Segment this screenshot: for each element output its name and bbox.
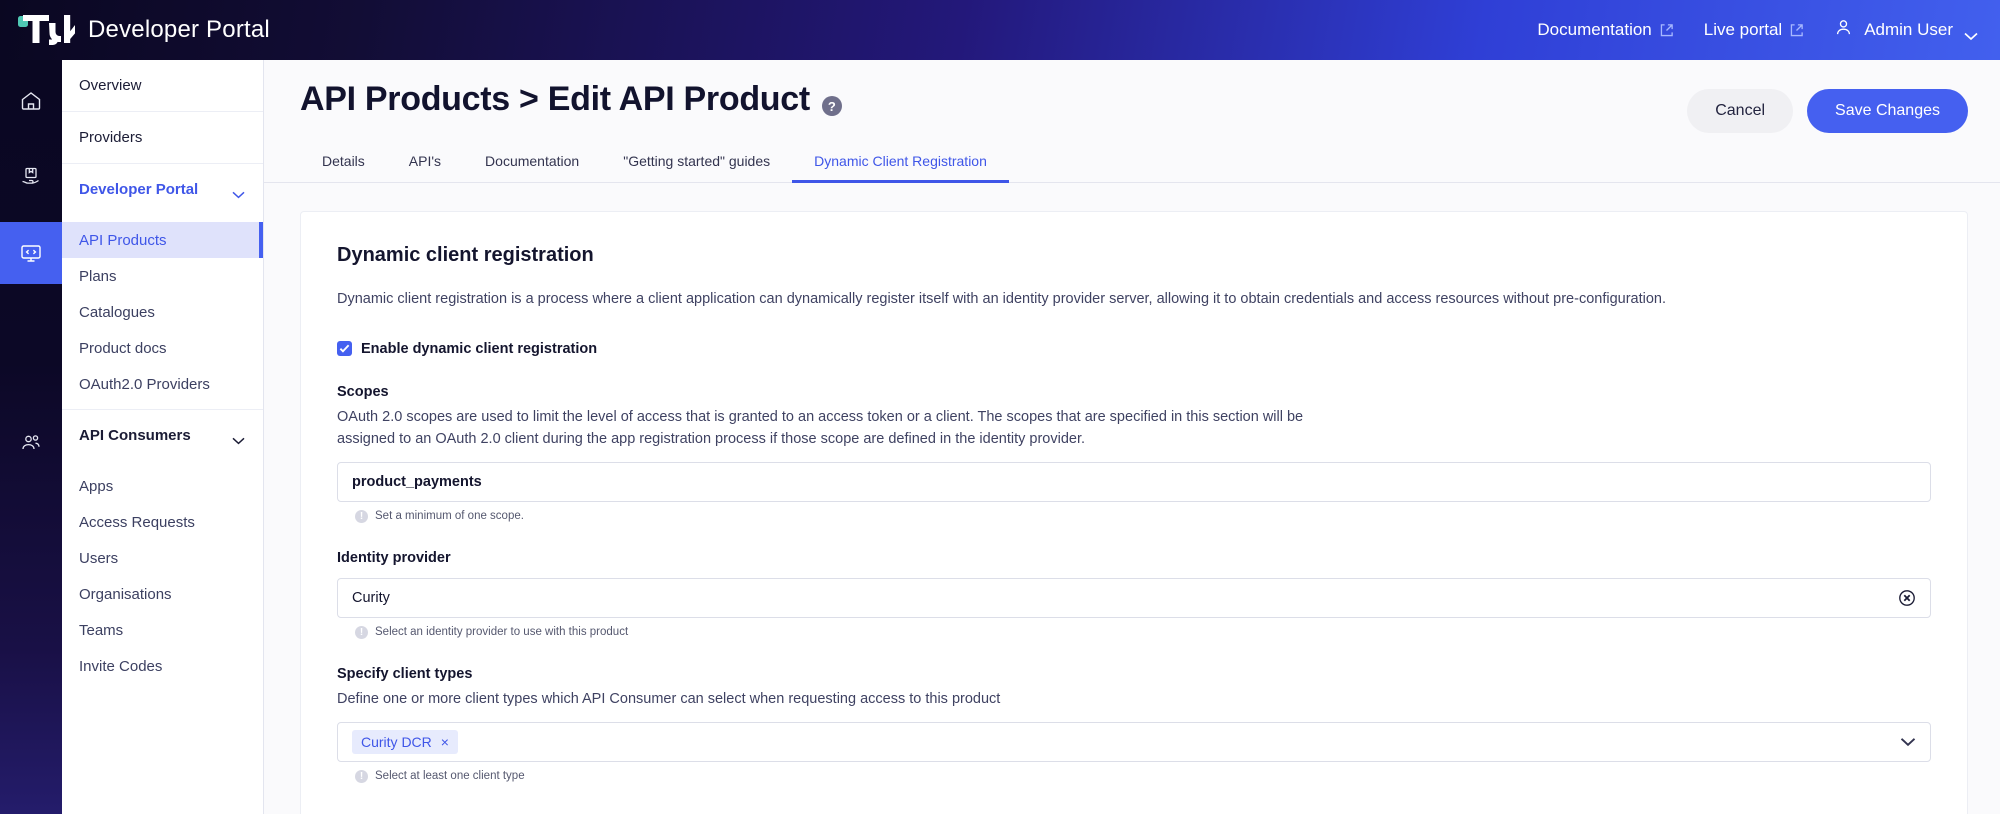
sidebar-item-teams[interactable]: Teams [62,612,263,648]
identity-provider-hint: ! Select an identity provider to use wit… [337,626,1931,639]
chevron-down-icon [232,186,245,194]
enable-dcr-label: Enable dynamic client registration [361,341,597,357]
sidebar-group-overview: Overview [62,60,263,112]
external-link-icon [1659,23,1674,38]
info-exclamation-icon: ! [355,626,368,639]
sidebar-item-catalogues[interactable]: Catalogues [62,294,263,330]
sidebar-item-label: API Products [79,232,167,249]
scopes-hint: ! Set a minimum of one scope. [337,510,1931,523]
section-description: Dynamic client registration is a process… [337,289,1931,311]
top-bar: Developer Portal Documentation Live port… [0,0,2000,60]
api-consumers-users-icon [19,431,43,455]
scopes-input[interactable]: product_payments [337,462,1931,502]
sidebar-item-users[interactable]: Users [62,540,263,576]
sidebar-item-organisations[interactable]: Organisations [62,576,263,612]
scopes-label: Scopes [337,384,1931,400]
sidebar-section-developer-portal[interactable]: Developer Portal [62,164,263,215]
sidebar-item-label: Overview [79,77,142,94]
enable-dcr-row[interactable]: Enable dynamic client registration [337,341,1931,357]
sidebar-item-label: Teams [79,622,123,639]
user-menu[interactable]: Admin User [1834,18,1978,42]
sidebar-item-label: Users [79,550,118,567]
scopes-input-value: product_payments [352,474,482,490]
developer-portal-monitor-code-icon [19,241,43,265]
sidebar-item-label: Plans [79,268,117,285]
client-type-chip[interactable]: Curity DCR × [352,730,458,754]
sidebar-item-label: Catalogues [79,304,155,321]
live-portal-link[interactable]: Live portal [1704,20,1804,40]
sidebar-item-label: Organisations [79,586,172,603]
client-types-description: Define one or more client types which AP… [337,688,1347,710]
checkmark-icon [339,343,350,354]
main-content: API Products > Edit API Product ? Cancel… [264,60,2000,814]
spacer [62,215,263,222]
sidebar-item-access-requests[interactable]: Access Requests [62,504,263,540]
sidebar-item-plans[interactable]: Plans [62,258,263,294]
tab-getting-started-guides[interactable]: "Getting started" guides [601,145,792,183]
scopes-hint-text: Set a minimum of one scope. [375,510,524,522]
chevron-down-icon [1964,26,1978,35]
sidebar-group-providers: Providers [62,112,263,164]
identity-provider-input[interactable]: Curity [337,578,1931,618]
section-title: Dynamic client registration [337,244,1931,267]
client-types-label: Specify client types [337,666,1931,682]
sidebar-item-product-docs[interactable]: Product docs [62,330,263,366]
client-types-hint: ! Select at least one client type [337,770,1931,783]
brand-title: Developer Portal [88,16,270,44]
sidebar-item-overview[interactable]: Overview [62,60,263,111]
chevron-down-icon[interactable] [1900,737,1916,747]
rail-item-home[interactable] [0,70,62,132]
sidebar-item-label: Providers [79,129,142,146]
providers-package-icon [19,165,43,189]
client-type-chip-label: Curity DCR [361,734,432,750]
sidebar-item-api-products[interactable]: API Products [62,222,263,258]
home-icon [19,89,43,113]
sidebar-item-label: Product docs [79,340,167,357]
spacer [62,461,263,468]
spacer [62,402,263,409]
help-question-icon[interactable]: ? [822,96,842,116]
client-types-field: Specify client types Define one or more … [337,666,1931,783]
sidebar-section-api-consumers[interactable]: API Consumers [62,410,263,461]
card-wrapper: Dynamic client registration Dynamic clie… [264,183,2000,814]
identity-provider-field: Identity provider Curity ! Select an ide… [337,550,1931,639]
rail-item-providers[interactable] [0,146,62,208]
clear-circle-x-icon[interactable] [1898,589,1916,607]
tab-documentation[interactable]: Documentation [463,145,601,183]
page-header-actions: Cancel Save Changes [1687,82,1968,133]
sidebar-item-invite-codes[interactable]: Invite Codes [62,648,263,684]
sidebar-section-label: Developer Portal [79,181,198,198]
chevron-down-icon [232,432,245,440]
rail-item-api-consumers[interactable] [0,412,62,474]
identity-provider-value: Curity [352,590,390,606]
sidebar-group-developer-portal: Developer Portal API Products Plans Cata… [62,164,263,410]
sidebar-item-label: Invite Codes [79,658,162,675]
sidebar-item-label: OAuth2.0 Providers [79,376,210,393]
tab-dynamic-client-registration[interactable]: Dynamic Client Registration [792,145,1009,183]
sidebar-group-api-consumers: API Consumers Apps Access Requests Users… [62,410,263,684]
tab-apis[interactable]: API's [387,145,463,183]
user-name: Admin User [1864,20,1953,40]
icon-rail [0,60,62,814]
info-exclamation-icon: ! [355,770,368,783]
sidebar-item-label: Access Requests [79,514,195,531]
sidebar-item-providers[interactable]: Providers [62,112,263,163]
save-changes-button[interactable]: Save Changes [1807,89,1968,133]
sidebar-section-label: API Consumers [79,427,191,444]
identity-provider-hint-text: Select an identity provider to use with … [375,626,628,638]
external-link-icon [1789,23,1804,38]
documentation-link[interactable]: Documentation [1537,20,1673,40]
info-exclamation-icon: ! [355,510,368,523]
tyk-logo-icon [18,13,76,47]
brand[interactable]: Developer Portal [0,13,270,47]
live-portal-link-label: Live portal [1704,20,1782,40]
identity-provider-label: Identity provider [337,550,1931,566]
sidebar-item-apps[interactable]: Apps [62,468,263,504]
tab-bar: Details API's Documentation "Getting sta… [264,133,2000,183]
sidebar-item-oauth2-providers[interactable]: OAuth2.0 Providers [62,366,263,402]
page-title: API Products > Edit API Product [300,82,810,118]
chip-remove-icon[interactable]: × [441,734,449,750]
scopes-description: OAuth 2.0 scopes are used to limit the l… [337,406,1347,450]
tab-details[interactable]: Details [300,145,387,183]
user-icon [1834,18,1853,42]
documentation-link-label: Documentation [1537,20,1651,40]
cancel-button[interactable]: Cancel [1687,89,1793,133]
page-header: API Products > Edit API Product ? Cancel… [264,60,2000,133]
sidebar-item-label: Apps [79,478,113,495]
enable-dcr-checkbox[interactable] [337,341,352,356]
top-bar-actions: Documentation Live portal Admin User [1537,18,2000,42]
rail-item-developer-portal[interactable] [0,222,62,284]
scopes-field: Scopes OAuth 2.0 scopes are used to limi… [337,384,1931,523]
client-types-hint-text: Select at least one client type [375,770,525,782]
sidebar: Overview Providers Developer Portal API … [62,60,264,814]
client-types-select[interactable]: Curity DCR × [337,722,1931,762]
dynamic-client-registration-card: Dynamic client registration Dynamic clie… [300,211,1968,814]
